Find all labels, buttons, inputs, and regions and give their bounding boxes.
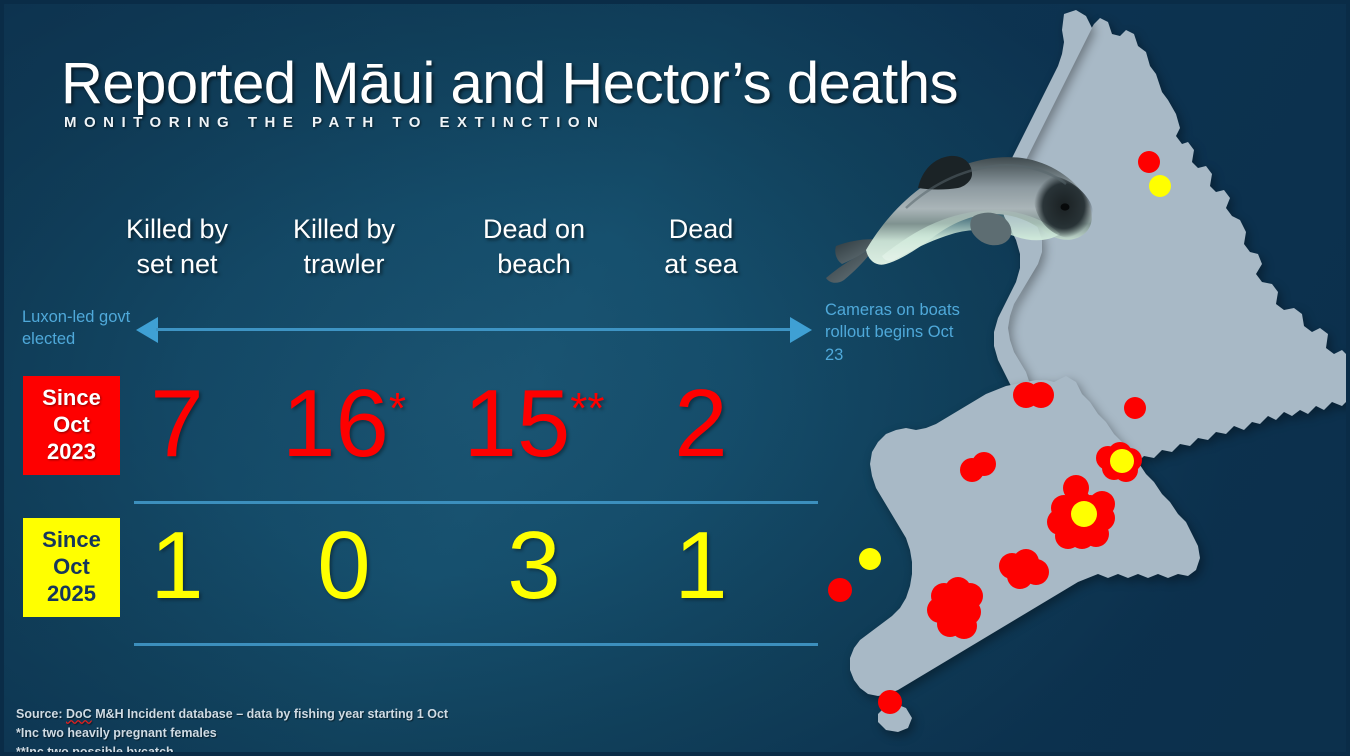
value-number: 3 <box>507 512 560 619</box>
column-header-dead-on-beach: Dead on beach <box>439 212 629 281</box>
footnote-source: Source: DoC M&H Incident database – data… <box>16 705 448 724</box>
column-header-line2: beach <box>439 247 629 282</box>
value-2025-dead-on-beach: 3 <box>439 518 629 614</box>
value-2023-dead-on-beach: 15** <box>439 376 629 472</box>
value-footnote-mark: * <box>389 384 406 433</box>
column-header-line1: Killed by <box>82 212 272 247</box>
value-number: 15 <box>463 370 570 477</box>
value-number: 0 <box>317 512 370 619</box>
timeline-axis <box>156 328 794 331</box>
column-header-line2: set net <box>82 247 272 282</box>
footnote-source-rest: M&H Incident database – data by fishing … <box>92 707 448 721</box>
value-number: 1 <box>674 512 727 619</box>
footnote-single-asterisk: *Inc two heavily pregnant females <box>16 724 448 743</box>
value-number: 1 <box>150 512 203 619</box>
value-2023-set-net: 7 <box>82 376 272 472</box>
value-number: 2 <box>674 370 727 477</box>
column-header-line1: Dead <box>606 212 796 247</box>
column-header-line2: trawler <box>249 247 439 282</box>
dolphin-eye <box>1061 203 1070 210</box>
footnotes: Source: DoC M&H Incident database – data… <box>16 705 448 756</box>
value-2023-trawler: 16* <box>249 376 439 472</box>
timeline-arrow-left-icon <box>136 317 158 343</box>
value-footnote-mark: ** <box>570 384 604 433</box>
column-header-line2: at sea <box>606 247 796 282</box>
column-header-line1: Killed by <box>249 212 439 247</box>
footnote-source-term: DoC <box>66 707 92 721</box>
timeline-label-right: Cameras on boats rollout begins Oct 23 <box>825 299 965 366</box>
column-header-dead-at-sea: Dead at sea <box>606 212 796 281</box>
timeline-arrow-right-icon <box>790 317 812 343</box>
row-divider-1 <box>134 501 818 504</box>
footnote-source-prefix: Source: <box>16 707 66 721</box>
column-header-line1: Dead on <box>439 212 629 247</box>
value-2025-trawler: 0 <box>249 518 439 614</box>
value-2025-dead-at-sea: 1 <box>606 518 796 614</box>
infographic-root: Reported Māui and Hector’s deaths MONITO… <box>0 0 1350 756</box>
value-number: 7 <box>150 370 203 477</box>
page-subtitle: MONITORING THE PATH TO EXTINCTION <box>64 114 605 131</box>
maui-dolphin-illustration <box>822 100 1118 296</box>
value-number: 16 <box>282 370 389 477</box>
column-header-trawler: Killed by trawler <box>249 212 439 281</box>
column-header-set-net: Killed by set net <box>82 212 272 281</box>
page-title: Reported Māui and Hector’s deaths <box>61 50 958 117</box>
value-2023-dead-at-sea: 2 <box>606 376 796 472</box>
value-2025-set-net: 1 <box>82 518 272 614</box>
row-divider-2 <box>134 643 818 646</box>
footnote-double-asterisk: **Inc two possible bycatch <box>16 743 448 756</box>
timeline-label-left: Luxon-led govt elected <box>22 306 134 351</box>
